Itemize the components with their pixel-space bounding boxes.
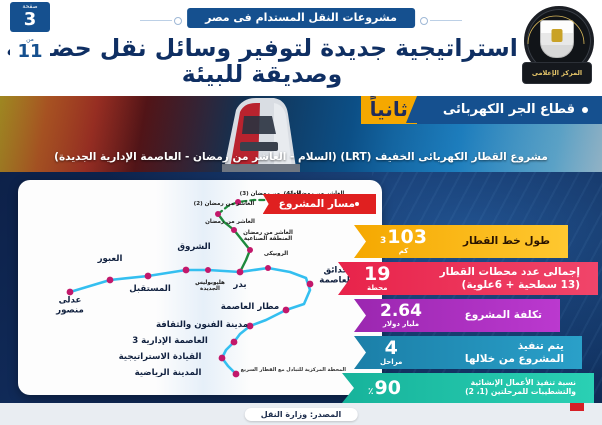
bullet-dot-icon — [582, 107, 588, 113]
kicker-dot-left-icon — [174, 17, 182, 25]
page-badge: صفحة 3 من 11 — [10, 2, 50, 67]
station-dot — [265, 265, 271, 271]
stat-completion-value: 90 — [375, 379, 401, 398]
station-label: هليوبوليسالجديدة — [195, 280, 225, 293]
station-dot — [237, 269, 244, 276]
stat-stations-count-value-box: 19 محطة — [364, 265, 390, 292]
infographic-page: المركز الإعلامى صفحة 3 من 11 مشروعات الن… — [0, 0, 602, 425]
station-dot — [231, 339, 238, 346]
page-total: من 11 — [10, 35, 50, 65]
station-dot — [145, 273, 152, 280]
stat-line-length-value-box: 103 3 كم — [380, 228, 427, 255]
interchange-note: المحطة المركزية للتبادل مع القطار السريع — [266, 368, 346, 374]
sis-logo: المركز الإعلامى — [518, 4, 596, 88]
project-title-bar: مشروع القطار الكهربائى الخفيف (LRT) (الس… — [0, 145, 602, 164]
stat-stations-count-label: إجمالى عدد محطات القطار(13 سطحية + 6علوي… — [390, 266, 586, 290]
station-label: الروبيكى — [264, 251, 288, 257]
statistics-panel: طول خط القطار 103 3 كم إجمالى عدد محطات … — [374, 225, 598, 407]
station-dot — [183, 267, 190, 274]
logo-text: المركز الإعلامى — [532, 69, 582, 77]
station-dot — [307, 281, 314, 288]
source-note: المصدر: وزارة النقل — [245, 408, 358, 421]
station-label: العاشر من رمضان (2) — [194, 201, 255, 207]
station-label: المستقبل — [129, 285, 171, 295]
station-label: القيادة الاستراتيجية — [119, 353, 202, 363]
page-current: صفحة 3 — [10, 2, 50, 32]
stat-phases-value: 4 — [385, 339, 398, 358]
station-label: العاشر من رمضانالمنطقة الصناعية — [243, 230, 293, 243]
stat-line-length: طول خط القطار 103 3 كم — [354, 225, 568, 258]
section-title-chip: قطاع الجر الكهربائى — [417, 96, 602, 124]
hero-strip: قطاع الجر الكهربائى ثانياً مشروع القطار … — [0, 96, 602, 172]
stat-phases-unit: مراحل — [380, 359, 402, 366]
section-title: قطاع الجر الكهربائى — [443, 102, 575, 117]
stat-line-length-value: 103 — [387, 228, 427, 247]
station-label: العبور — [98, 255, 123, 265]
page-of-label: من — [10, 37, 50, 44]
station-label: عدلىمنصور — [56, 296, 84, 315]
kicker-rule-right — [430, 20, 462, 21]
station-dot — [107, 277, 114, 284]
page-title: استراتيجية جديدة لتوفير وسائل نقل حضارية… — [0, 36, 524, 88]
stat-stations-count-value: 19 — [364, 265, 390, 284]
station-dot — [231, 227, 237, 233]
route-map-card: مسار المشروع عدلىمنصورالعبورالمستقبلالشر… — [18, 180, 382, 395]
stat-completion-label: نسبة تنفيذ الأعمال الإنشائيةوالتشطيبات ل… — [401, 379, 582, 396]
station-dot — [215, 211, 221, 217]
page-total-number: 11 — [10, 43, 50, 61]
kicker-banner: مشروعات النقل المستدام فى مصر — [187, 8, 415, 28]
stat-line-length-unit: كم — [399, 248, 409, 255]
station-label: الشروق — [177, 243, 210, 253]
station-label: مطار العاصمة — [221, 303, 279, 313]
stat-phases: يتم تنفيذالمشروع من خلالها 4 مراحل — [354, 336, 582, 369]
stat-line-length-label: طول خط القطار — [427, 235, 556, 247]
station-label: العاصمة الإدارية 3 — [132, 337, 208, 347]
logo-arc-text-icon — [518, 4, 594, 70]
stat-project-cost: تكلفة المشروع 2.64 مليار دولار — [354, 299, 560, 332]
kicker-rule-left — [140, 20, 172, 21]
station-label: بدر — [233, 281, 246, 291]
stat-completion-value-box: 90 ٪ — [368, 379, 401, 398]
station-dot — [205, 267, 211, 273]
stat-project-cost-label: تكلفة المشروع — [422, 309, 548, 321]
route-tag-dot-icon — [355, 202, 359, 206]
page-number: 3 — [10, 11, 50, 29]
page-label: صفحة — [10, 4, 50, 11]
route-tag-label: مسار المشروع — [279, 198, 355, 210]
stat-completion: نسبة تنفيذ الأعمال الإنشائيةوالتشطيبات ل… — [342, 373, 594, 403]
stat-stations-count: إجمالى عدد محطات القطار(13 سطحية + 6علوي… — [338, 262, 598, 295]
stat-phases-label: يتم تنفيذالمشروع من خلالها — [402, 340, 570, 364]
station-dot — [247, 247, 253, 253]
station-dot — [233, 371, 240, 378]
station-dot — [283, 307, 290, 314]
station-label: مدينة الفنون والثقافة — [156, 321, 248, 331]
kicker-dot-right-icon — [420, 17, 428, 25]
station-dot — [219, 355, 226, 362]
section-header-bar: قطاع الجر الكهربائى ثانياً — [361, 96, 602, 124]
stat-line-length-sup: 3 — [380, 237, 386, 246]
station-dot — [67, 289, 74, 296]
station-label: العاشر من رمضان — [205, 219, 255, 225]
stat-completion-sup: ٪ — [368, 388, 374, 397]
stat-phases-value-box: 4 مراحل — [380, 339, 402, 366]
route-tag: مسار المشروع — [263, 194, 376, 214]
stat-project-cost-value-box: 2.64 مليار دولار — [380, 303, 422, 328]
logo-base-plate: المركز الإعلامى — [522, 62, 592, 84]
stat-project-cost-value: 2.64 — [380, 303, 422, 320]
page-header: المركز الإعلامى صفحة 3 من 11 مشروعات الن… — [0, 0, 602, 96]
stat-stations-count-unit: محطة — [367, 285, 387, 292]
station-label: المدينة الرياضية — [135, 369, 202, 379]
project-title: مشروع القطار الكهربائى الخفيف (LRT) (الس… — [54, 151, 548, 163]
stat-project-cost-unit: مليار دولار — [383, 321, 419, 328]
